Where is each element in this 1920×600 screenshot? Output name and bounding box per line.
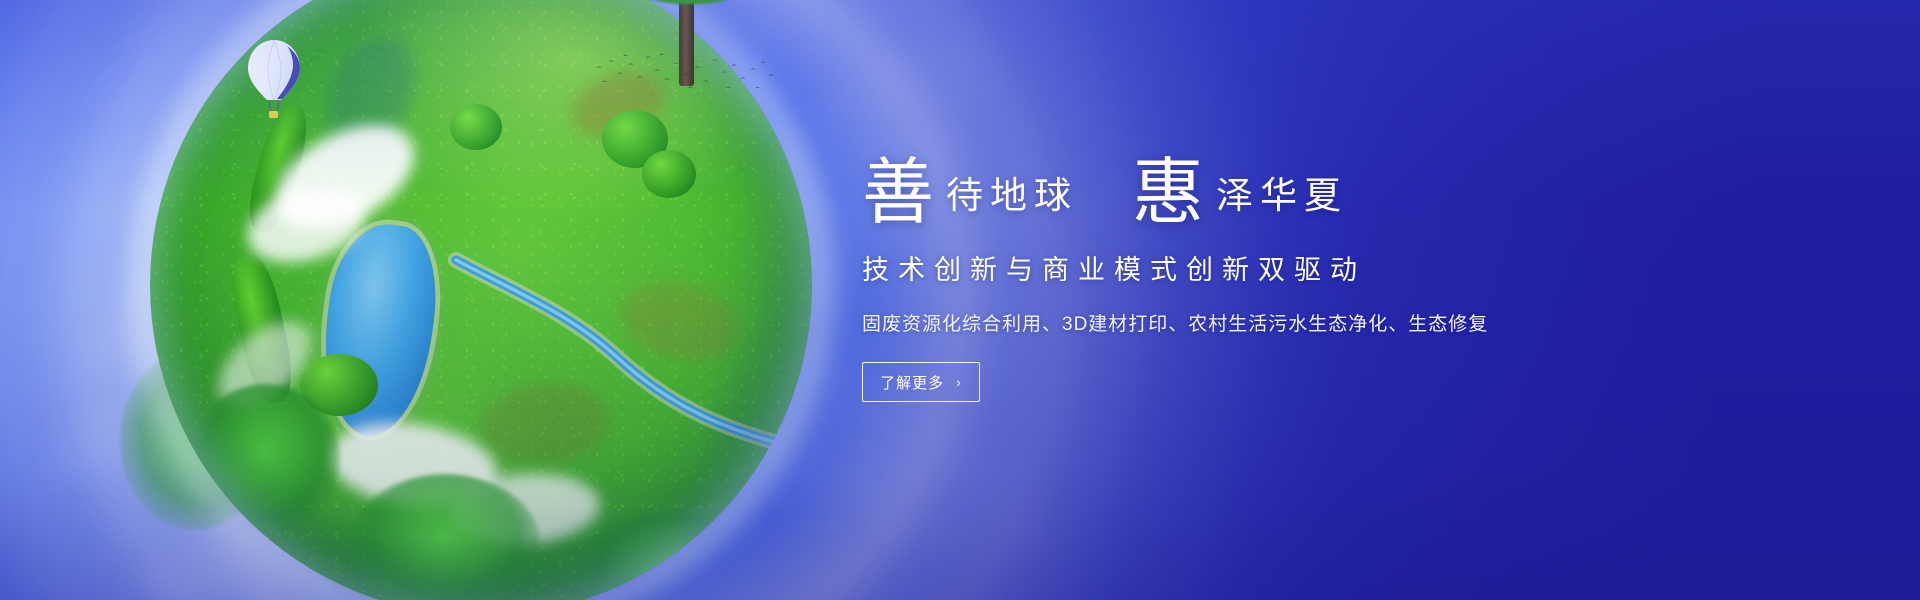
banner-content: 善 待地球 惠 泽华夏 技术创新与商业模式创新双驱动 固废资源化综合利用、3D建… [862,126,1842,402]
banner-description: 固废资源化综合利用、3D建材打印、农村生活污水生态净化、生态修复 [862,309,1842,336]
headline-rest-1: 待地球 [946,177,1078,214]
headline-rest-2: 泽华夏 [1216,177,1348,214]
headline-char-2: 惠 [1132,156,1204,228]
banner-subtitle: 技术创新与商业模式创新双驱动 [862,248,1842,287]
chevron-right-icon: › [956,375,962,389]
learn-more-button[interactable]: 了解更多 › [862,362,980,402]
headline-char-1: 善 [862,156,934,228]
learn-more-label: 了解更多 [880,372,944,393]
hero-banner: 善 待地球 惠 泽华夏 技术创新与商业模式创新双驱动 固废资源化综合利用、3D建… [0,0,1920,600]
page-title: 善 待地球 惠 泽华夏 [862,126,1842,222]
